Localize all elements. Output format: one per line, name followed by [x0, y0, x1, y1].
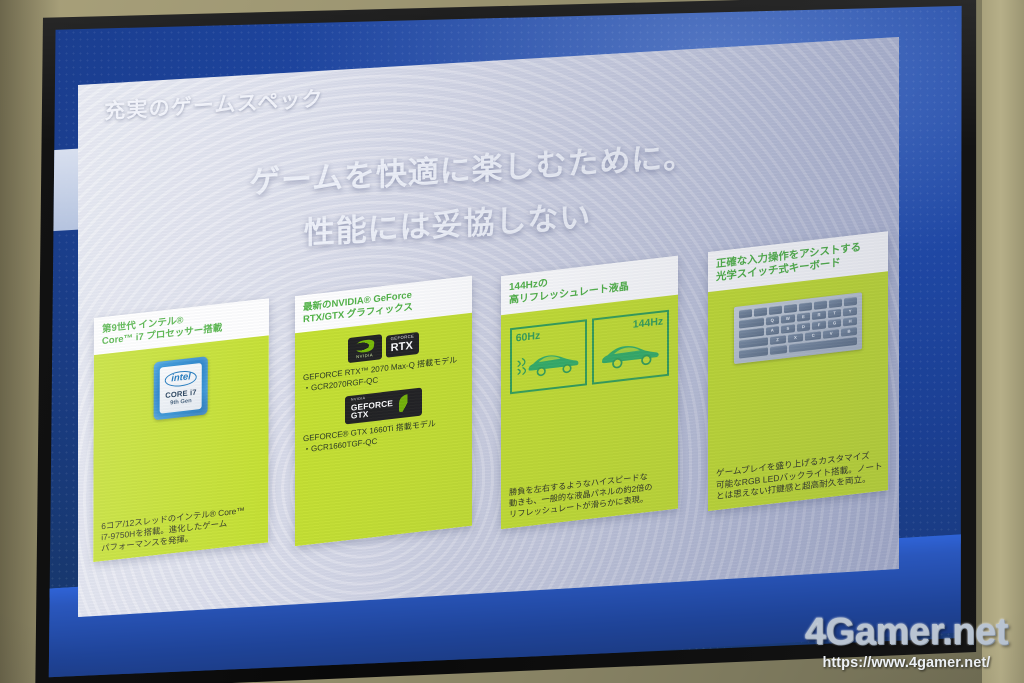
watermark-url: https://www.4gamer.net/ [805, 655, 1008, 671]
key-d: D [796, 322, 810, 332]
key-r: R [812, 310, 826, 320]
refresh-rate-comparison: 60Hz [508, 309, 669, 394]
key-g: G [827, 318, 841, 328]
card-gpu-gtx-caption: GEFORCE® GTX 1660Ti 搭載モデル ・GCR1660TGF-QC [303, 416, 464, 456]
key [828, 298, 841, 308]
slide-content: 充実のゲームスペック ゲームを快適に楽しむために。 性能には妥協しない 第9世代… [78, 37, 899, 617]
key [770, 345, 786, 355]
key [783, 304, 796, 314]
gtx-badge-text: NVIDIA GEFORCE GTX [351, 394, 393, 420]
key-s: S [780, 324, 794, 334]
key-f: F [812, 320, 826, 330]
photo-scene: 充実のゲームスペック ゲームを快適に楽しむために。 性能には妥協しない 第9世代… [0, 0, 1024, 683]
key-v: V [823, 329, 839, 339]
intel-logo-text: intel [165, 370, 197, 388]
gtx-badge-gtx-label: GTX [351, 407, 393, 420]
intel-processor-badge-icon: intel CORE i7 9th Gen [154, 357, 208, 421]
key-b: B [840, 327, 856, 337]
keyboard-rows: Q W E R T Y [738, 297, 856, 359]
nvidia-swoosh-icon [399, 394, 416, 413]
presentation-slide: 充実のゲームスペック ゲームを快適に楽しむために。 性能には妥協しない 第9世代… [78, 37, 899, 617]
key [768, 305, 781, 315]
key [738, 309, 751, 319]
refresh-panel-144hz: 144Hz [591, 310, 668, 385]
intel-badge-gen-label: 9th Gen [170, 399, 192, 407]
key-a: A [765, 326, 779, 336]
key-q: Q [765, 316, 779, 326]
feature-card-gpu: 最新のNVIDIA® GeForce RTX/GTX グラフィックス NVIDI… [295, 276, 472, 546]
card-keyboard-body: Q W E R T Y [707, 271, 887, 511]
key-c: C [805, 331, 821, 341]
key-x: X [787, 333, 803, 343]
key-h: H [843, 317, 857, 327]
rtx-badge-rtx-label: RTX [390, 341, 412, 355]
key [738, 347, 767, 358]
card-keyboard-description: ゲームプレイを盛り上げるカスタマイズ 可能なRGB LEDバックライト搭載。ノー… [715, 450, 879, 503]
feature-card-cpu: 第9世代 インテル® Core™ i7 プロセッサー搭載 intel CORE … [93, 299, 268, 563]
geforce-rtx-badge-group: NVIDIA GEFORCE RTX [347, 330, 419, 363]
feature-card-keyboard: 正確な入力操作をアシストする 光学スイッチ式キーボード [707, 231, 887, 510]
key-y: Y [843, 307, 857, 317]
card-cpu-body: intel CORE i7 9th Gen 6コア/12スレッドのインテル® C… [93, 336, 268, 563]
key [843, 297, 856, 307]
key-e: E [796, 312, 810, 322]
key-w: W [780, 314, 794, 324]
geforce-gtx-badge-icon: NVIDIA GEFORCE GTX [345, 388, 422, 425]
card-gpu-body: NVIDIA GEFORCE RTX GEFORCE RTX™ 2070 Max… [295, 313, 472, 546]
key-z: Z [769, 335, 785, 345]
television-display: 充実のゲームスペック ゲームを快適に楽しむために。 性能には妥協しない 第9世代… [14, 0, 980, 683]
slide-title: 充実のゲームスペック [104, 82, 323, 125]
key-t: T [827, 308, 841, 318]
key [798, 302, 811, 312]
sharp-car-icon [598, 333, 662, 375]
key [753, 307, 766, 317]
nvidia-wordmark: NVIDIA [356, 353, 373, 360]
tv-screen: 充実のゲームスペック ゲームを快適に楽しむために。 性能には妥協しない 第9世代… [14, 0, 980, 683]
refresh-panel-60hz: 60Hz [509, 319, 586, 394]
card-cpu-description: 6コア/12スレッドのインテル® Core™ i7-9750Hを搭載。進化したゲ… [101, 503, 260, 554]
intel-badge-inner: intel CORE i7 9th Gen [160, 364, 202, 415]
feature-card-display: 144Hzの 高リフレッシュレート液晶 60Hz [500, 256, 677, 529]
geforce-rtx-badge-icon: GEFORCE RTX [385, 332, 419, 358]
card-display-description: 勝負を左右するようなハイスピードな 動きも、一般的な液晶パネルの約2倍の リフレ… [508, 470, 669, 521]
keyboard-photo-icon: Q W E R T Y [733, 292, 861, 364]
room-wall-right-panel [982, 0, 1024, 683]
refresh-label-144hz: 144Hz [632, 315, 662, 331]
watermark: 4Gamer.net https://www.4gamer.net/ [805, 613, 1008, 671]
refresh-label-60hz: 60Hz [515, 330, 540, 345]
key [813, 300, 826, 310]
watermark-logo: 4Gamer.net [805, 613, 1008, 651]
nvidia-eye-glyph [354, 339, 375, 353]
nvidia-eye-logo-icon: NVIDIA [347, 335, 381, 364]
card-display-body: 60Hz [500, 295, 677, 530]
blurry-car-icon [515, 342, 579, 384]
card-gpu-rtx-caption: GEFORCE RTX™ 2070 Max-Q 搭載モデル ・GCR2070RG… [303, 355, 464, 395]
feature-card-row: 第9世代 インテル® Core™ i7 プロセッサー搭載 intel CORE … [94, 250, 887, 584]
